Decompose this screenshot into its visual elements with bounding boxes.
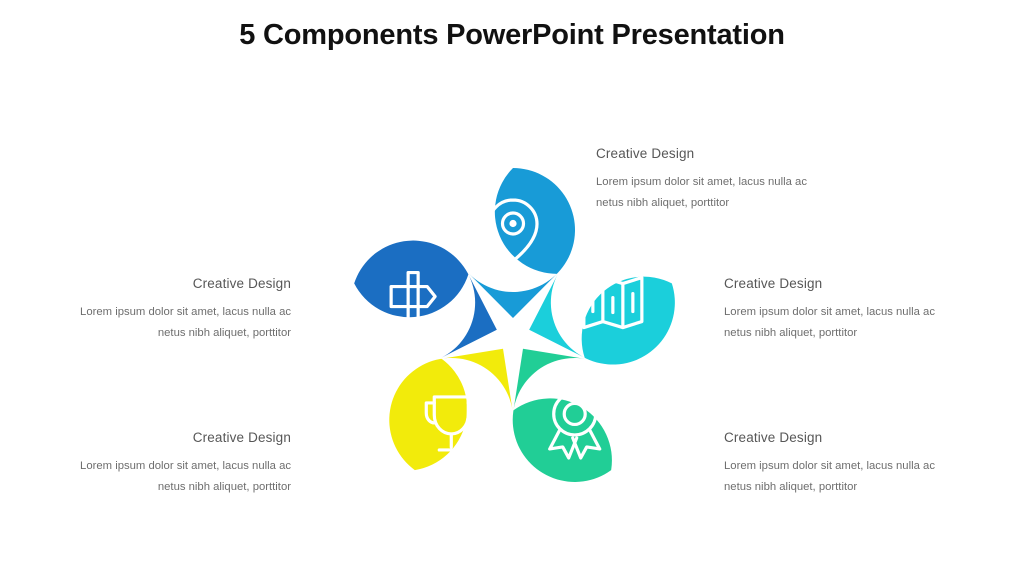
component-text-top: Creative Design Lorem ipsum dolor sit am… xyxy=(596,146,807,214)
component-text-bottom-left: Creative Design Lorem ipsum dolor sit am… xyxy=(80,430,291,498)
petal-shape-bottom-left xyxy=(365,312,539,496)
component-body-line-2: netus nibh aliquet, porttitor xyxy=(80,477,291,498)
slide-canvas: 5 Components PowerPoint Presentation xyxy=(0,0,1024,576)
component-body-line-2: netus nibh aliquet, porttitor xyxy=(724,477,935,498)
component-heading: Creative Design xyxy=(80,430,291,445)
component-text-bottom-right: Creative Design Lorem ipsum dolor sit am… xyxy=(724,430,935,498)
component-heading: Creative Design xyxy=(724,276,935,291)
component-petal-bottom-left[interactable] xyxy=(365,312,539,496)
component-body-line-2: netus nibh aliquet, porttitor xyxy=(596,193,807,214)
page-title: 5 Components PowerPoint Presentation xyxy=(0,19,1024,52)
component-petal-top[interactable] xyxy=(469,168,575,318)
component-petal-left[interactable] xyxy=(341,224,516,371)
component-heading: Creative Design xyxy=(724,430,935,445)
petal-shape-left xyxy=(341,224,516,371)
component-heading: Creative Design xyxy=(80,276,291,291)
component-text-left: Creative Design Lorem ipsum dolor sit am… xyxy=(80,276,291,344)
component-body-line-1: Lorem ipsum dolor sit amet, lacus nulla … xyxy=(724,456,935,477)
component-body-line-2: netus nibh aliquet, porttitor xyxy=(80,323,291,344)
component-heading: Creative Design xyxy=(596,146,807,161)
component-body-line-1: Lorem ipsum dolor sit amet, lacus nulla … xyxy=(724,302,935,323)
component-body-line-2: netus nibh aliquet, porttitor xyxy=(724,323,935,344)
component-body-line-1: Lorem ipsum dolor sit amet, lacus nulla … xyxy=(596,172,807,193)
component-body-line-1: Lorem ipsum dolor sit amet, lacus nulla … xyxy=(80,456,291,477)
component-body-line-1: Lorem ipsum dolor sit amet, lacus nulla … xyxy=(80,302,291,323)
petal-shape-top xyxy=(469,168,575,318)
component-text-right: Creative Design Lorem ipsum dolor sit am… xyxy=(724,276,935,344)
